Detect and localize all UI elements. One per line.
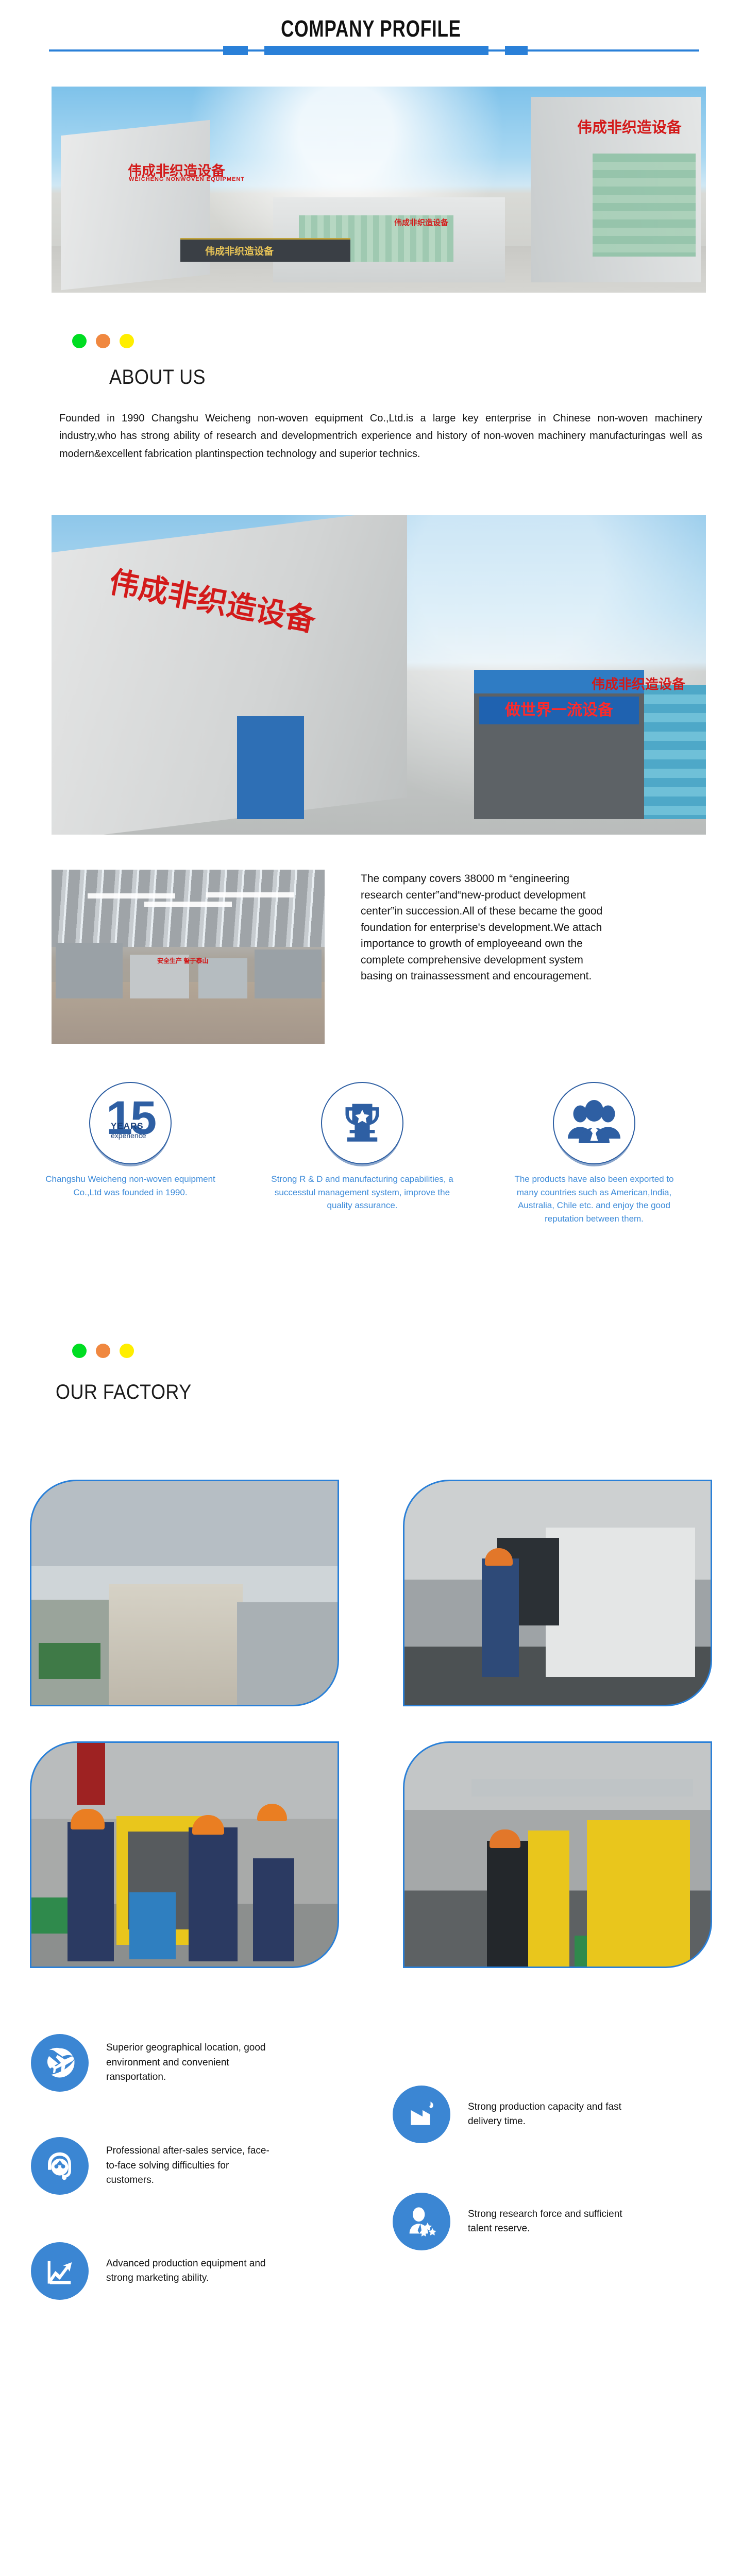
banner-right-glass — [593, 154, 696, 257]
factory-photo-equipment-installation — [403, 1741, 712, 1968]
dot-green-icon — [72, 1344, 87, 1358]
trophy-icon — [321, 1082, 403, 1164]
feature-equipment: Advanced production equipment and strong… — [31, 2242, 276, 2300]
dot-green-icon — [72, 334, 87, 348]
years-number-block: 15 YEARS experience — [97, 1094, 163, 1152]
photo-worker — [68, 1822, 114, 1961]
photo-yellow-machine — [587, 1820, 690, 1968]
photo-machine — [31, 1600, 116, 1706]
dot-yellow-icon — [120, 1344, 134, 1358]
photo-yellow-column — [528, 1831, 569, 1968]
photo-helmet — [490, 1829, 520, 1848]
banner-sign-center-cn: 伟成非织造设备 — [394, 217, 448, 228]
factory-photo-assembly-workers — [30, 1741, 339, 1968]
factory-sign-right-cn: 伟成非织造设备 — [592, 674, 685, 693]
badge-caption: Changshu Weicheng non-woven equipment Co… — [30, 1173, 231, 1199]
about-us-heading: ABOUT US — [109, 366, 206, 389]
feature-service: Professional after-sales service, face-t… — [31, 2137, 276, 2195]
badge-caption: The products have also been exported to … — [494, 1173, 695, 1225]
photo-gantry-beam — [471, 1779, 693, 1797]
page-title: COMPANY PROFILE — [81, 15, 660, 42]
globe-airplane-icon — [31, 2034, 89, 2092]
divider-block-center — [264, 46, 488, 55]
badge-quality: Strong R & D and manufacturing capabilit… — [262, 1082, 463, 1212]
photo-worker — [253, 1858, 294, 1961]
company-profile-page: COMPANY PROFILE 伟成非织造设备 WEICHENG NONWOVE… — [0, 0, 742, 2576]
fifteen-years-icon: 15 YEARS experience — [89, 1082, 172, 1164]
banner-gate-wall: 伟成非织造设备 — [180, 238, 350, 262]
dot-orange-icon — [96, 334, 110, 348]
workshop-skylight — [206, 892, 294, 897]
banner-gate-sign: 伟成非织造设备 — [205, 244, 274, 258]
about-us-paragraph: Founded in 1990 Changshu Weicheng non-wo… — [59, 410, 702, 463]
feature-location: Superior geographical location, good env… — [31, 2034, 276, 2092]
feature-capacity: Strong production capacity and fast deli… — [393, 2086, 638, 2143]
factory-dots — [72, 1344, 134, 1358]
photo-helmet — [257, 1804, 287, 1821]
workshop-machine — [56, 943, 123, 998]
workshop-banner-cn: 安全生产 誓于泰山 — [157, 956, 208, 965]
banner-campus-photo: 伟成非织造设备 WEICHENG NONWOVEN EQUIPMENT 伟成非织… — [52, 87, 706, 293]
factory-blue-door — [237, 716, 304, 819]
feature-research: Strong research force and sufficient tal… — [393, 2193, 638, 2250]
photo-worker — [482, 1558, 519, 1677]
about-workshop-photo: 安全生产 誓于泰山 — [52, 870, 325, 1044]
workshop-machine — [255, 950, 322, 998]
headset-support-icon — [31, 2137, 89, 2195]
badge-export: The products have also been exported to … — [494, 1082, 695, 1225]
badge-years: 15 YEARS experience Changshu Weicheng no… — [30, 1082, 231, 1199]
badge-years-label: YEARS — [111, 1121, 144, 1131]
factory-photo-production-line — [30, 1480, 339, 1706]
team-icon — [553, 1082, 635, 1164]
badge-caption: Strong R & D and manufacturing capabilit… — [262, 1173, 463, 1212]
header-divider — [49, 45, 699, 56]
workshop-skylight — [144, 902, 232, 907]
feature-text: Strong production capacity and fast deli… — [468, 2100, 638, 2129]
photo-worker — [487, 1841, 528, 1968]
workshop-roof — [52, 870, 325, 947]
factory-shed-banner: 做世界一流设备 — [479, 697, 639, 724]
photo-red-panel — [77, 1743, 105, 1805]
photo-worker — [189, 1827, 238, 1961]
factory-icon — [393, 2086, 450, 2143]
person-stars-icon — [393, 2193, 450, 2250]
banner-building-left — [61, 120, 210, 290]
photo-helmet — [71, 1809, 105, 1829]
divider-block-right — [505, 46, 528, 55]
dot-orange-icon — [96, 1344, 110, 1358]
feature-text: Strong research force and sufficient tal… — [468, 2207, 638, 2236]
feature-text: Professional after-sales service, face-t… — [106, 2144, 276, 2188]
factory-glass-facade — [644, 685, 706, 819]
about-us-paragraph-2: The company covers 38000 m “engineering … — [361, 871, 603, 985]
dot-yellow-icon — [120, 334, 134, 348]
badge-experience-label: experience — [111, 1131, 146, 1140]
banner-sign-left-en: WEICHENG NONWOVEN EQUIPMENT — [129, 176, 245, 182]
about-dots — [72, 334, 134, 348]
factory-photo-cnc-machining — [403, 1480, 712, 1706]
growth-chart-icon — [31, 2242, 89, 2300]
workshop-skylight — [88, 893, 175, 899]
our-factory-heading: OUR FACTORY — [56, 1381, 192, 1404]
photo-machine — [237, 1602, 338, 1706]
photo-aisle — [109, 1584, 243, 1706]
photo-blue-cabinet — [129, 1892, 176, 1959]
divider-block-left — [223, 46, 248, 55]
feature-text: Advanced production equipment and strong… — [106, 2257, 276, 2286]
photo-cnc-machine — [546, 1528, 695, 1677]
feature-text: Superior geographical location, good env… — [106, 2041, 276, 2085]
about-factory-exterior-photo: 做世界一流设备 伟成非织造设备 伟成非织造设备 — [52, 515, 706, 835]
factory-wall — [52, 515, 407, 835]
banner-sign-right-cn: 伟成非织造设备 — [577, 115, 682, 137]
